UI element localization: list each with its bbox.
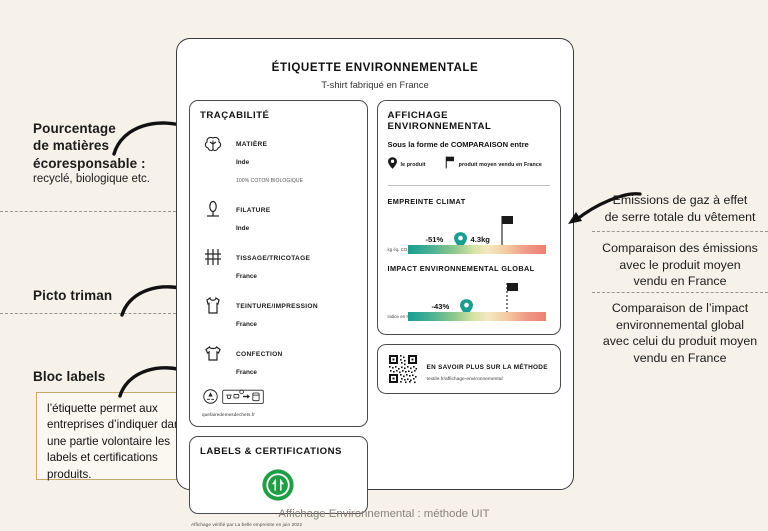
spinning-yarn-icon <box>200 196 226 222</box>
metric-value: 4.3kg <box>471 235 490 244</box>
left-divider-1 <box>0 211 176 212</box>
france-flag-icon <box>444 156 455 174</box>
annotation-line: Emissions de gaz à effet <box>596 192 764 209</box>
labels-title: LABELS & CERTIFICATIONS <box>200 446 357 457</box>
environmental-display-panel: AFFICHAGE ENVIRONNEMENTAL Sous la forme … <box>377 100 561 335</box>
annotation-line: Comparaison des émissions <box>596 240 764 257</box>
method-text: EN SAVOIR PLUS SUR LA MÉTHODE textile.fr… <box>427 356 548 382</box>
annotation-line: vendu en France <box>596 273 764 290</box>
weaving-grid-icon <box>200 244 226 270</box>
traceability-list: MATIÈRE Inde 100% COTON BIOLOGIQUE <box>200 130 357 379</box>
metric-impact-global: IMPACT ENVIRONNEMENTAL GLOBAL indice en … <box>388 264 550 325</box>
annotation-line: de serre totale du vêtement <box>596 209 764 226</box>
trace-step: TEINTURE/IMPRESSION <box>236 303 318 310</box>
divider <box>388 185 550 186</box>
verification-note: Affichage vérifié par La belle empreinte… <box>189 522 368 527</box>
qr-code-icon[interactable] <box>388 354 418 384</box>
right-divider-1 <box>592 231 768 232</box>
trace-row: TEINTURE/IMPRESSION France <box>200 292 357 331</box>
metric-percent: -51% <box>426 235 444 244</box>
dyeing-garment-icon <box>200 292 226 318</box>
gauge-area: indice en % -43% <box>388 275 550 325</box>
page-subtitle: T-shirt fabriqué en France <box>189 79 561 90</box>
display-subtitle: Sous la forme de COMPARAISON entre <box>388 140 550 149</box>
annotation-line: Comparaison de l’impact <box>596 300 764 317</box>
annotation-subline: recyclé, biologique etc. <box>33 172 183 187</box>
gauge-area: kg éq. CO₂ -51% 4.3kg <box>388 208 550 258</box>
france-flag-marker <box>503 282 519 316</box>
sorting-bins-icon <box>222 388 264 410</box>
trace-step: MATIÈRE <box>236 141 267 148</box>
annotation-emissions-ges: Emissions de gaz à effet de serre totale… <box>596 192 764 225</box>
trace-row: MATIÈRE Inde 100% COTON BIOLOGIQUE <box>200 130 357 187</box>
page-title: ÉTIQUETTE ENVIRONNEMENTALE <box>189 61 561 74</box>
trace-row: TISSAGE/TRICOTAGE France <box>200 244 357 283</box>
triman-block: quefairedemesdechets.fr <box>200 388 357 417</box>
trace-value: France <box>236 369 257 376</box>
metric-empreinte-climat: EMPREINTE CLIMAT kg éq. CO₂ -51% 4.3kg <box>388 197 550 258</box>
triman-icon <box>202 388 219 410</box>
trace-value: Inde <box>236 225 249 232</box>
trace-note: 100% COTON BIOLOGIQUE <box>236 178 303 184</box>
annotation-comparaison-emissions: Comparaison des émissions avec le produi… <box>596 240 764 290</box>
display-title: AFFICHAGE ENVIRONNEMENTAL <box>388 110 550 132</box>
left-column: TRAÇABILITÉ MATIÈRE Inde 100% COT <box>189 100 368 527</box>
traceability-title: TRAÇABILITÉ <box>200 110 357 121</box>
annotation-line: avec celui du produit moyen <box>596 333 764 350</box>
map-pin-icon <box>388 156 397 174</box>
cotton-flower-icon <box>200 130 226 156</box>
triman-row <box>202 388 357 410</box>
metric-percent: -43% <box>432 302 450 311</box>
tshirt-icon <box>200 340 226 366</box>
trace-value: France <box>236 273 257 280</box>
annotation-line: environnemental global <box>596 317 764 334</box>
callout-text: l’étiquette permet aux entreprises d’ind… <box>47 402 186 481</box>
environmental-label-card: ÉTIQUETTE ENVIRONNEMENTALE T-shirt fabri… <box>176 38 574 490</box>
gauge-bar <box>408 312 546 321</box>
trace-text: FILATURE Inde <box>236 196 271 235</box>
method-title: EN SAVOIR PLUS SUR LA MÉTHODE <box>427 364 548 371</box>
trace-value: Inde <box>236 159 249 166</box>
triman-url: quefairedemesdechets.fr <box>202 412 357 417</box>
france-flag-marker <box>498 215 514 249</box>
trace-step: FILATURE <box>236 207 271 214</box>
legend-item-produit: le produit <box>388 156 426 174</box>
figure-caption: Affichage Environnemental : méthode UIT <box>0 508 768 520</box>
traceability-panel: TRAÇABILITÉ MATIÈRE Inde 100% COT <box>189 100 368 427</box>
annotation-line: vendu en France <box>596 350 764 367</box>
metric-title: IMPACT ENVIRONNEMENTAL GLOBAL <box>388 264 550 273</box>
method-url[interactable]: textile.fr/affichage-environnemental <box>427 377 548 382</box>
annotation-comparaison-impact: Comparaison de l’impact environnemental … <box>596 300 764 366</box>
annotation-line: avec le produit moyen <box>596 257 764 274</box>
trace-row: CONFECTION France <box>200 340 357 379</box>
trace-text: TISSAGE/TRICOTAGE France <box>236 244 310 283</box>
gauge-bar <box>408 245 546 254</box>
metric-title: EMPREINTE CLIMAT <box>388 197 550 206</box>
method-info-panel[interactable]: EN SAVOIR PLUS SUR LA MÉTHODE textile.fr… <box>377 344 561 394</box>
trace-value: France <box>236 321 257 328</box>
trace-row: FILATURE Inde <box>200 196 357 235</box>
trace-text: CONFECTION France <box>236 340 283 379</box>
trace-step: CONFECTION <box>236 351 283 358</box>
legend-label: produit moyen vendu en France <box>459 162 542 168</box>
trace-text: TEINTURE/IMPRESSION France <box>236 292 318 331</box>
trace-step: TISSAGE/TRICOTAGE <box>236 255 310 262</box>
legend-item-produit-moyen: produit moyen vendu en France <box>444 156 542 174</box>
gauge-unit: kg éq. CO₂ <box>388 247 409 252</box>
right-divider-2 <box>592 292 768 293</box>
comparison-legend: le produit produit moyen vendu en France <box>388 156 550 174</box>
right-column: AFFICHAGE ENVIRONNEMENTAL Sous la forme … <box>377 100 561 527</box>
labels-certifications-panel: LABELS & CERTIFICATIONS <box>189 436 368 514</box>
legend-label: le produit <box>401 162 426 168</box>
trace-text: MATIÈRE Inde 100% COTON BIOLOGIQUE <box>236 130 303 187</box>
gots-organic-textile-icon <box>200 468 357 502</box>
